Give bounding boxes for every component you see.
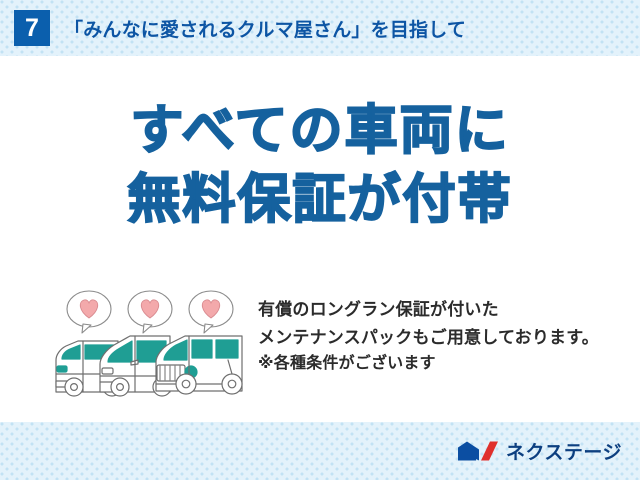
warranty-banner: 7 「みんなに愛されるクルマ屋さん」を目指して すべての車両に 無料保証が付帯 <box>0 0 640 480</box>
banner-stage: すべての車両に 無料保証が付帯 <box>0 56 640 422</box>
brand-wordmark: ネクステージ <box>506 438 622 465</box>
nexstage-n-logo-icon <box>457 439 499 463</box>
banner-footer: ネクステージ <box>0 422 640 480</box>
copy-line-3-note: ※各種条件がございます <box>258 351 628 377</box>
brand-logo-lockup: ネクステージ <box>457 438 622 465</box>
header-title: 「みんなに愛されるクルマ屋さん」を目指して <box>64 15 466 42</box>
headline-line-2: 無料保証が付帯 <box>0 169 640 232</box>
cars-illustration <box>52 288 248 402</box>
banner-header: 7 「みんなに愛されるクルマ屋さん」を目指して <box>0 0 640 56</box>
car-suv <box>156 336 242 394</box>
headline-line-1: すべての車両に <box>0 100 640 163</box>
copy-line-1: 有償のロングラン保証が付いた <box>258 296 628 324</box>
lower-content: 有償のロングラン保証が付いた メンテナンスパックもご用意しております。 ※各種条… <box>0 288 640 408</box>
header-inner: 7 「みんなに愛されるクルマ屋さん」を目指して <box>0 0 640 56</box>
headline: すべての車両に 無料保証が付帯 <box>0 100 640 231</box>
step-number-badge: 7 <box>14 10 50 46</box>
supporting-copy: 有償のロングラン保証が付いた メンテナンスパックもご用意しております。 ※各種条… <box>258 296 628 377</box>
copy-line-2: メンテナンスパックもご用意しております。 <box>258 324 628 352</box>
